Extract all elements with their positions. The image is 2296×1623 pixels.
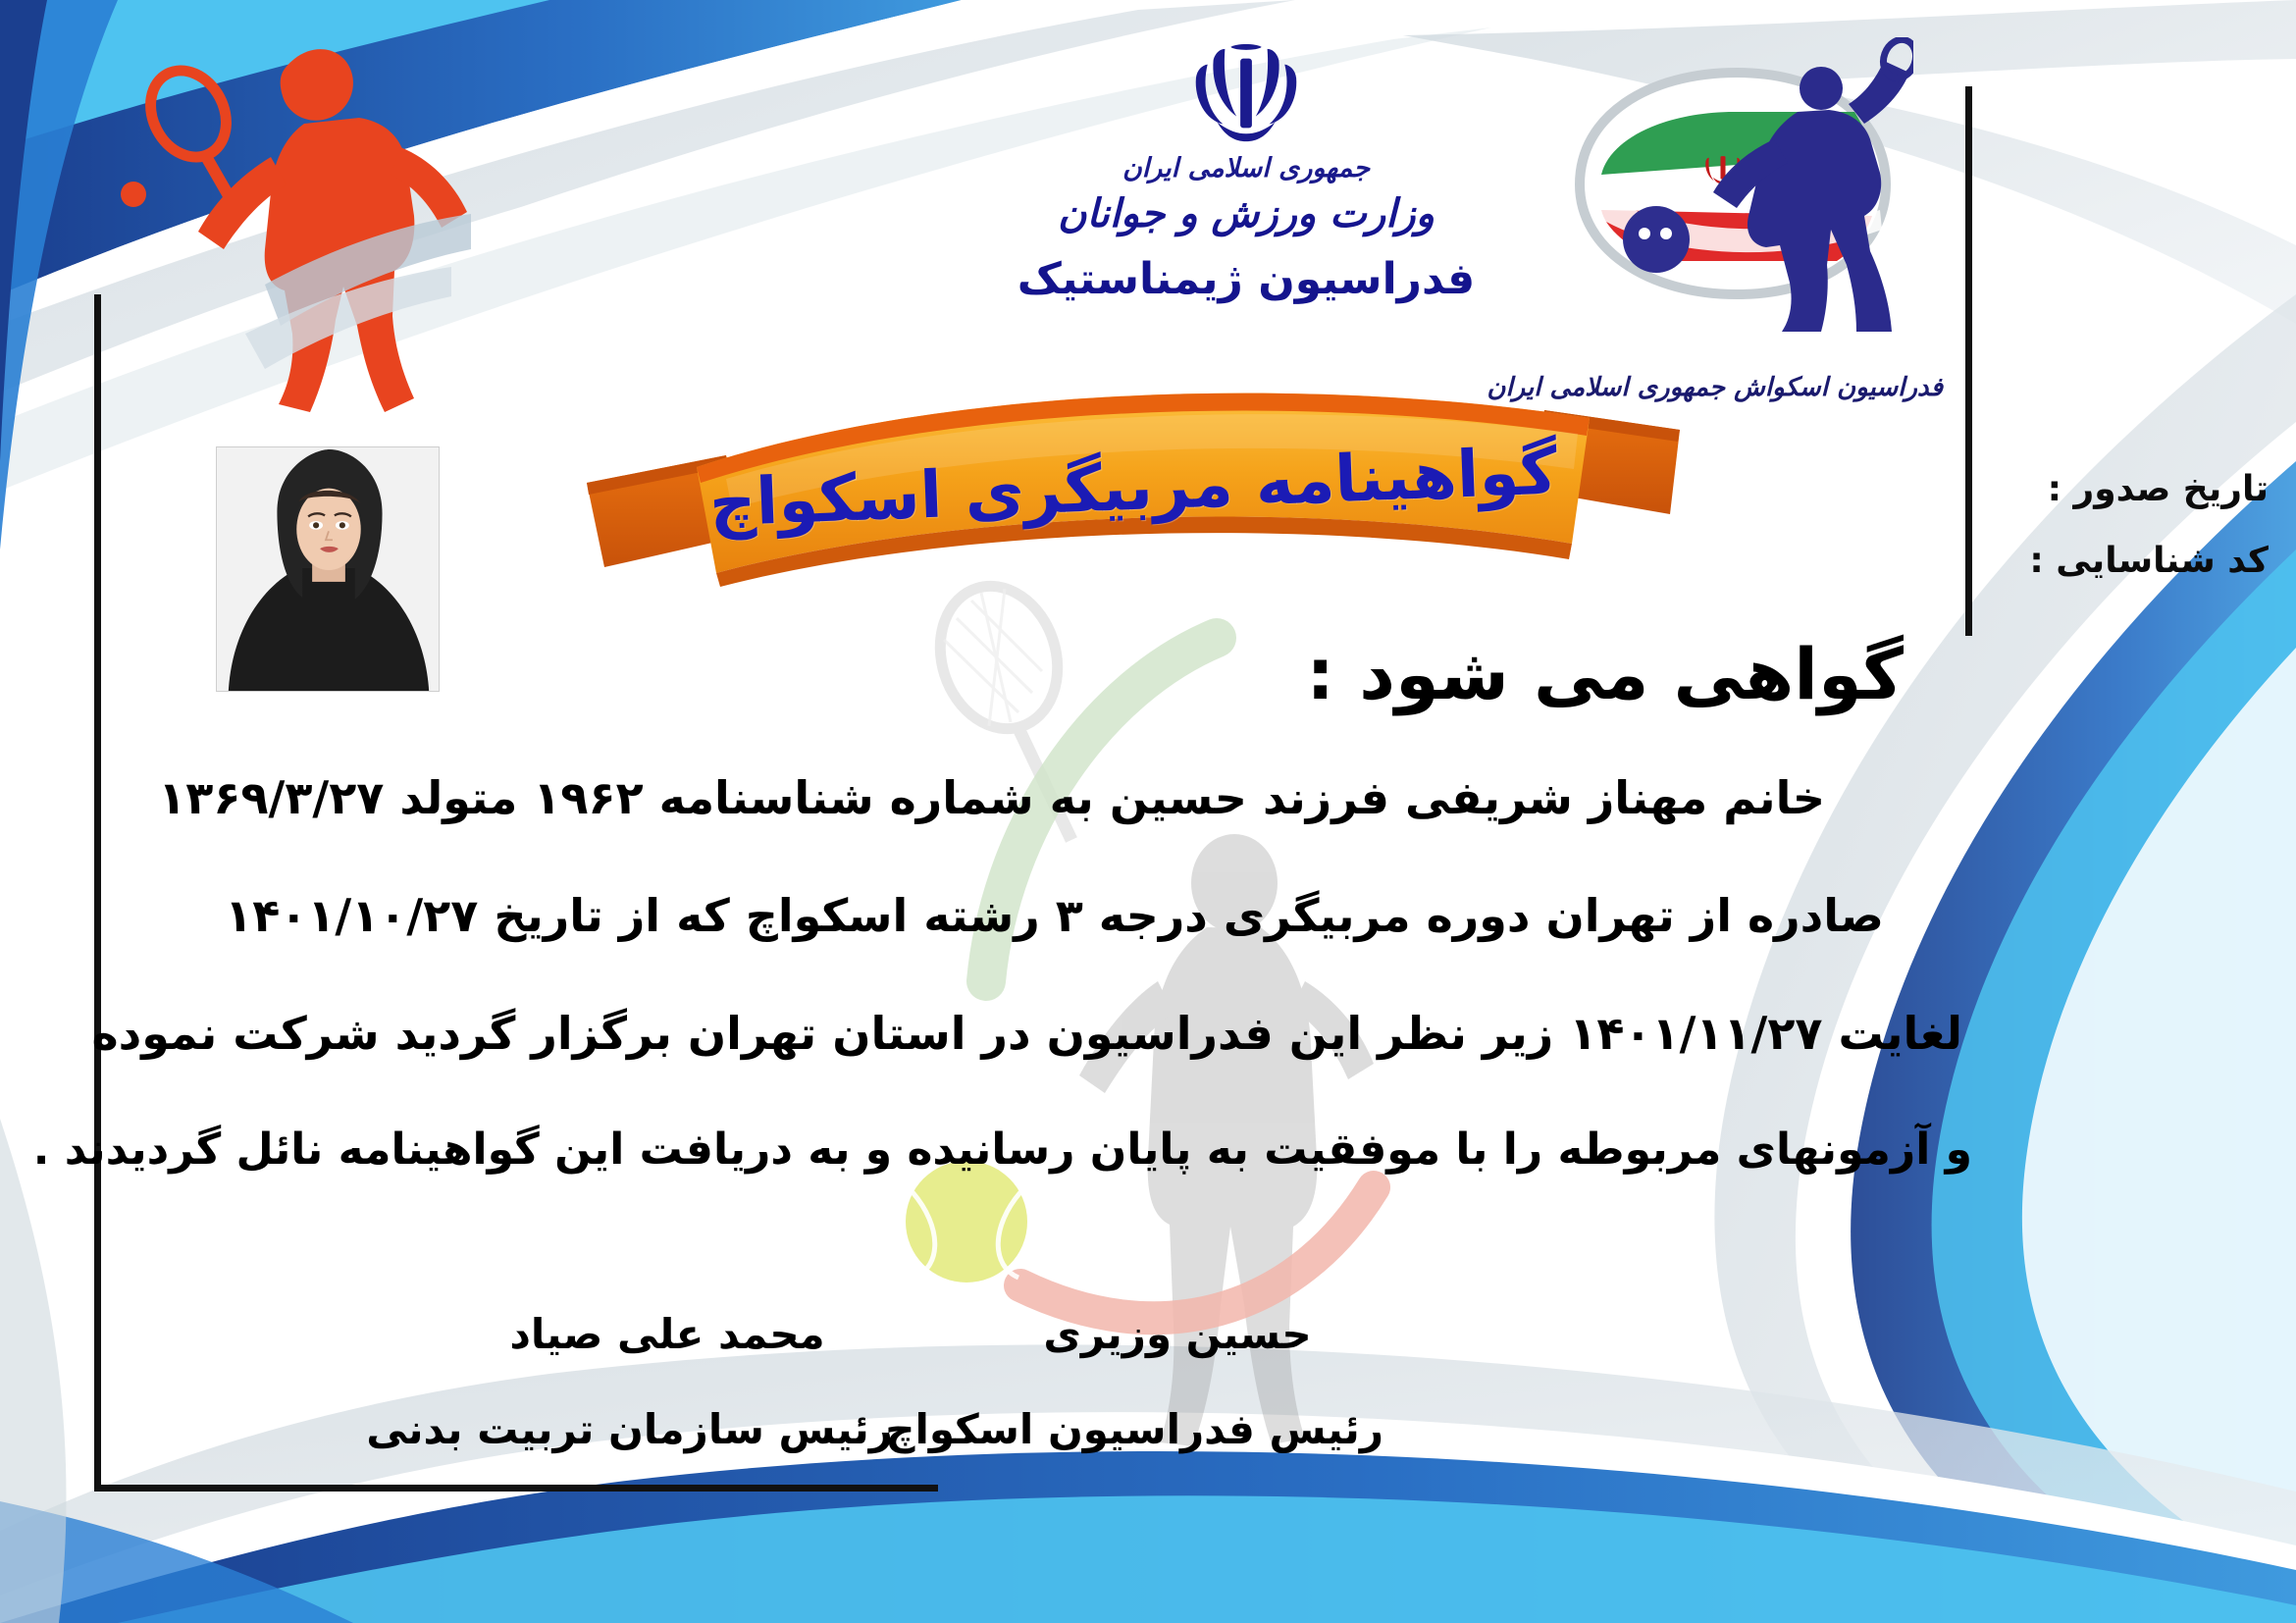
certify-heading: گواهی می شود : — [1306, 633, 1904, 715]
signature-name: حسین وزیری — [971, 1310, 1383, 1358]
body-line-1: خانم مهناز شریفی فرزند حسین به شماره شنا… — [167, 775, 1972, 820]
squash-federation-logo-icon — [1540, 37, 1913, 332]
signature-title: رئیس سازمان تربیت بدنی — [442, 1405, 893, 1453]
federation-line: فدراسیون ژیمناستیک — [1011, 254, 1482, 304]
signature-physical-education-head: محمد علی صیاد رئیس سازمان تربیت بدنی — [442, 1310, 893, 1453]
certificate-meta: تاریخ صدور : کد شناسایی : — [1982, 469, 2276, 612]
holder-photo — [216, 446, 440, 692]
certificate-body: خانم مهناز شریفی فرزند حسین به شماره شنا… — [167, 775, 1972, 1244]
frame-right-divider — [1965, 86, 1972, 636]
squash-federation-logo — [1540, 37, 1913, 332]
body-line-3: لغایت ۱۴۰۱/۱۱/۲۷ زیر نظر این فدراسیون در… — [167, 1011, 1972, 1056]
id-code-label: کد شناسایی : — [1982, 541, 2276, 581]
frame-left-border — [94, 294, 101, 1492]
header-emblem-block: جمهوری اسلامی ایران وزارت ورزش و جوانان … — [1011, 41, 1482, 304]
signature-federation-president: حسین وزیری رئیس فدراسیون اسکواچ — [971, 1310, 1383, 1453]
portrait-photo-icon — [217, 447, 439, 691]
squash-player-graphic — [121, 49, 471, 412]
iran-national-emblem-icon — [1188, 41, 1304, 149]
body-line-2: صادره از تهران دوره مربیگری درجه ۳ رشته … — [167, 893, 1972, 938]
signature-title: رئیس فدراسیون اسکواچ — [971, 1405, 1383, 1453]
certificate-page: جمهوری اسلامی ایران وزارت ورزش و جوانان … — [0, 0, 2296, 1623]
issue-date-label: تاریخ صدور : — [1982, 469, 2276, 509]
country-line: جمهوری اسلامی ایران — [1011, 153, 1482, 183]
title-ribbon: گواهینامه مربیگری اسکواچ — [579, 365, 1688, 610]
signature-name: محمد علی صیاد — [442, 1310, 893, 1358]
frame-bottom-border — [94, 1485, 938, 1492]
ministry-line: وزارت ورزش و جوانان — [1011, 191, 1482, 236]
body-line-4: و آزمونهای مربوطه را با موفقیت به پایان … — [167, 1128, 1972, 1172]
